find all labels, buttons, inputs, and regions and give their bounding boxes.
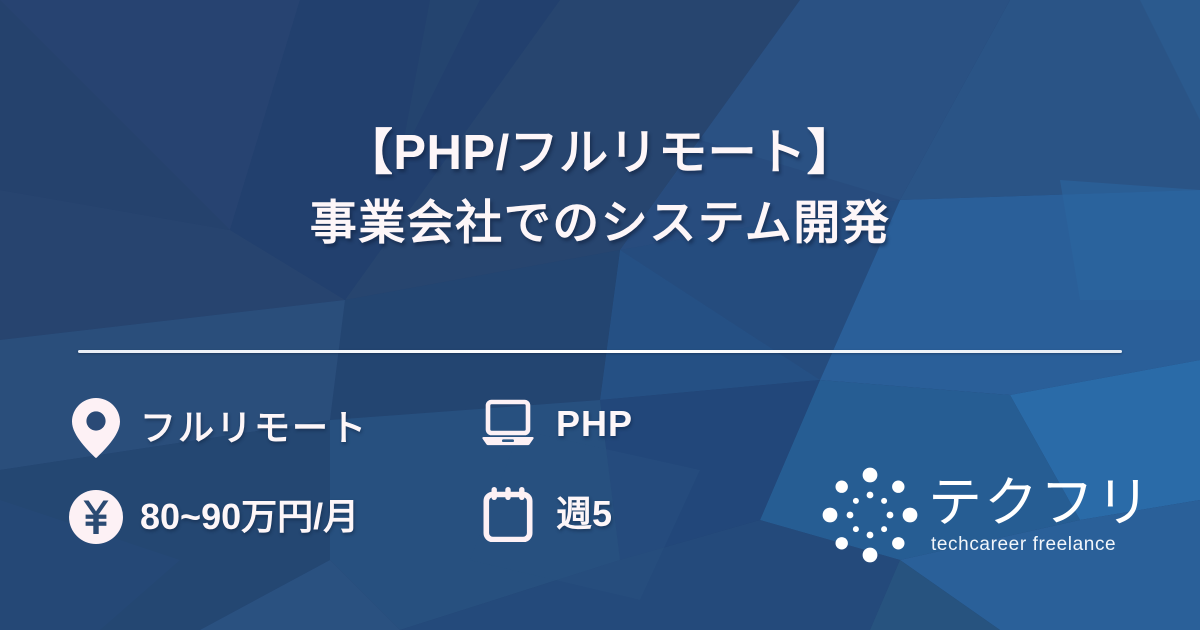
ogp-card: 【PHP/フルリモート】 事業会社でのシステム開発 フルリモート bbox=[0, 0, 1200, 630]
yen-circle-icon bbox=[68, 488, 124, 546]
location-pin-icon bbox=[70, 396, 122, 460]
laptop-icon bbox=[482, 398, 534, 450]
info-item-days: 週5 bbox=[482, 486, 612, 542]
info-label-salary: 80~90万円/月 bbox=[140, 497, 359, 537]
title-line-2: 事業会社でのシステム開発 bbox=[0, 188, 1200, 258]
title-line-1: 【PHP/フルリモート】 bbox=[0, 118, 1200, 188]
logo-text-group: テクフリ techcareer freelance bbox=[928, 474, 1152, 557]
job-title: 【PHP/フルリモート】 事業会社でのシステム開発 bbox=[0, 118, 1200, 258]
info-label-skill: PHP bbox=[556, 404, 633, 444]
info-item-location: フルリモート bbox=[70, 396, 368, 460]
info-label-days: 週5 bbox=[556, 494, 612, 534]
divider bbox=[78, 350, 1122, 353]
info-item-salary: 80~90万円/月 bbox=[68, 488, 359, 546]
info-label-location: フルリモート bbox=[140, 408, 368, 448]
logo-tagline: techcareer freelance bbox=[931, 533, 1116, 557]
info-item-skill: PHP bbox=[482, 398, 633, 450]
logo-wordmark: テクフリ bbox=[928, 474, 1152, 532]
dot-constellation-icon bbox=[818, 463, 922, 567]
calendar-icon bbox=[482, 486, 534, 542]
brand-logo: テクフリ techcareer freelance bbox=[818, 462, 1138, 568]
